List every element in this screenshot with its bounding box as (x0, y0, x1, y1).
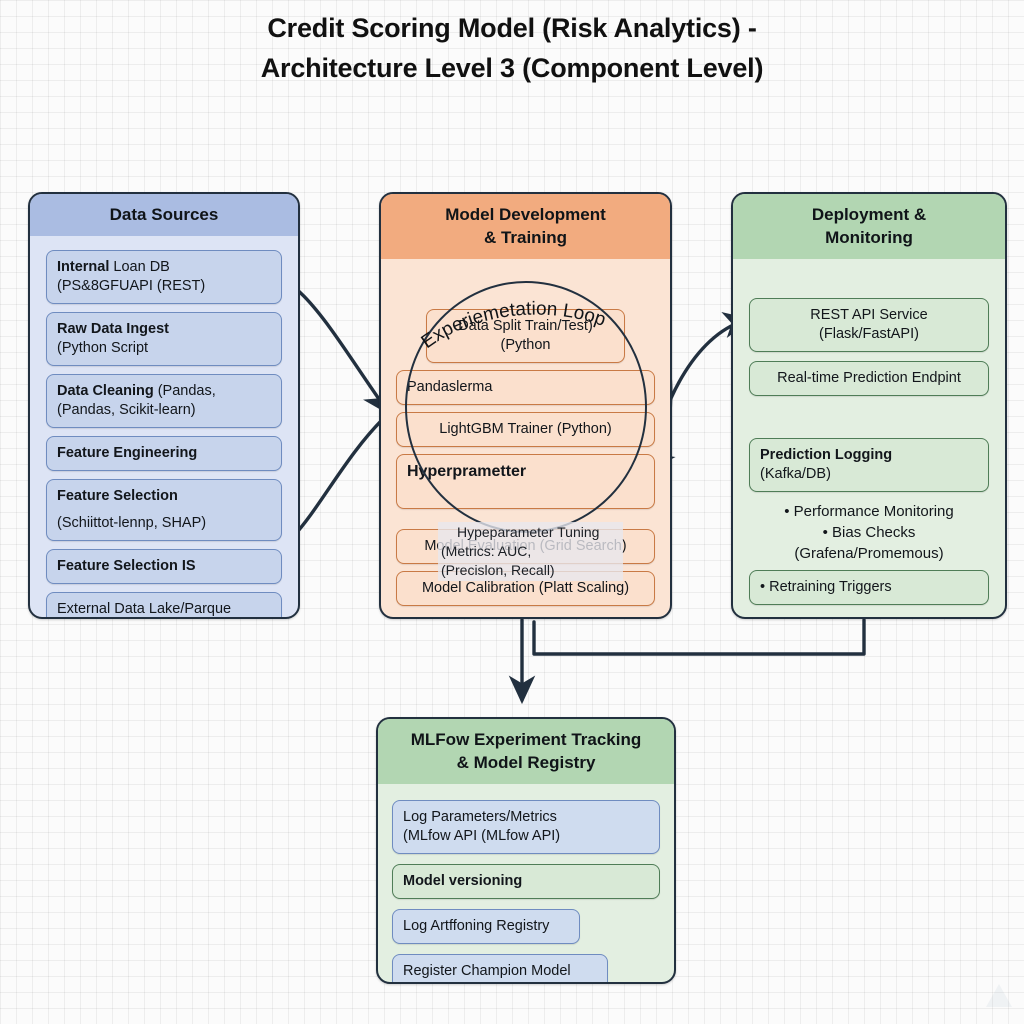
node-feature-engineering[interactable]: Feature Engineering (46, 436, 282, 471)
panel-model-development-header: Model Development & Training (381, 194, 670, 259)
bullet-performance-monitoring: • Performance Monitoring (749, 501, 989, 522)
panel-deployment-monitoring[interactable]: Deployment & Monitoring REST API Service… (731, 192, 1007, 619)
node-rest-api-service[interactable]: REST API Service (Flask/FastAPI) (749, 298, 989, 352)
node-retraining-triggers[interactable]: • Retraining Triggers (749, 570, 989, 605)
panel-mlflow-header-line-1: MLFow Experiment Tracking (411, 730, 642, 749)
node-log-artifact-registry[interactable]: Log Artffoning Registry (392, 909, 580, 944)
node-external-data-lake[interactable]: External Data Lake/Parque (46, 592, 282, 619)
hyperparameter-note-line-2: (Metrics: AUC, (441, 542, 620, 561)
node-prediction-logging-sub: (Kafka/DB) (760, 465, 978, 484)
panel-deployment-header-line-1: Deployment & (812, 205, 926, 224)
diagram-canvas: Credit Scoring Model (Risk Analytics) - … (0, 0, 1024, 1024)
node-realtime-prediction-endpoint-label: Real-time Prediction Endpint (760, 369, 978, 388)
node-raw-data-ingest-strong: Raw Data Ingest (57, 321, 169, 337)
node-log-artifact-registry-label: Log Artffoning Registry (403, 917, 569, 936)
watermark-icon (982, 980, 1016, 1014)
node-pandaslerma-label: Pandaslerma (407, 378, 644, 397)
node-feature-selection-is-label: Feature Selection IS (57, 558, 196, 574)
node-raw-data-ingest-sub: (Python Script (57, 339, 271, 358)
node-data-cleaning-sub: (Pandas, Scikit-learn) (57, 401, 271, 420)
node-lightgbm-trainer[interactable]: LightGBM Trainer (Python) (396, 412, 655, 447)
panel-mlflow-body: Log Parameters/Metrics (MLfow API (MLfow… (378, 784, 674, 984)
bullet-grafana-prometheus: (Grafena/Promemous) (749, 543, 989, 564)
node-external-data-lake-label: External Data Lake/Parque (57, 600, 271, 619)
hyperparameter-note-line-3: (Precislon, Recall) (441, 561, 620, 580)
hyperparameter-tuning-note: Hypeparameter Tuning (Metrics: AUC, (Pre… (438, 522, 623, 581)
node-realtime-prediction-endpoint[interactable]: Real-time Prediction Endpint (749, 361, 989, 396)
node-feature-selection-strong: Feature Selection (57, 488, 178, 504)
node-raw-data-ingest[interactable]: Raw Data Ingest (Python Script (46, 312, 282, 366)
page-title: Credit Scoring Model (Risk Analytics) - … (0, 8, 1024, 88)
panel-data-sources-header: Data Sources (30, 194, 298, 236)
experimentation-loop-text: Experiemetation Loop (418, 299, 609, 353)
node-model-calibration-label: Model Calibration (Platt Scaling) (407, 579, 644, 598)
panel-deployment-header: Deployment & Monitoring (733, 194, 1005, 259)
bullet-bias-checks: • Bias Checks (749, 522, 989, 543)
node-feature-engineering-label: Feature Engineering (57, 445, 197, 461)
node-hyperparameter-label: Hyperprametter (407, 463, 526, 480)
node-data-cleaning[interactable]: Data Cleaning (Pandas, (Pandas, Scikit-l… (46, 374, 282, 428)
node-register-champion-model[interactable]: Register Champion Model (392, 954, 608, 984)
node-data-cleaning-strong: Data Cleaning (57, 383, 154, 399)
node-data-cleaning-rest: (Pandas, (154, 383, 216, 399)
node-internal-loan-db[interactable]: Internal Loan DB (PS&8GFUAPI (REST) (46, 250, 282, 304)
panel-model-development[interactable]: Model Development & Training Experiemeta… (379, 192, 672, 619)
panel-deployment-header-line-2: Monitoring (825, 228, 913, 247)
panel-model-development-body: Experiemetation Loop Data Split Train/Te… (381, 259, 670, 591)
node-feature-selection[interactable]: Feature Selection (Schiittot-lennp, SHAP… (46, 479, 282, 541)
panel-deployment-body: REST API Service (Flask/FastAPI) Real-ti… (733, 259, 1005, 619)
node-model-versioning[interactable]: Model versioning (392, 864, 660, 899)
node-retraining-triggers-label: • Retraining Triggers (760, 578, 978, 597)
panel-mlflow-registry[interactable]: MLFow Experiment Tracking & Model Regist… (376, 717, 676, 984)
experimentation-loop-label: Experiemetation Loop (381, 259, 672, 379)
node-prediction-logging[interactable]: Prediction Logging (Kafka/DB) (749, 438, 989, 492)
node-internal-loan-db-rest: Loan DB (109, 259, 169, 275)
node-lightgbm-trainer-label: LightGBM Trainer (Python) (407, 420, 644, 439)
node-register-champion-model-label: Register Champion Model (403, 962, 597, 981)
panel-data-sources-body: Internal Loan DB (PS&8GFUAPI (REST) Raw … (30, 236, 298, 619)
node-model-versioning-label: Model versioning (403, 873, 522, 889)
node-rest-api-service-sub: (Flask/FastAPI) (760, 325, 978, 344)
node-rest-api-service-label: REST API Service (760, 306, 978, 325)
panel-mlflow-header: MLFow Experiment Tracking & Model Regist… (378, 719, 674, 784)
svg-text:Experiemetation Loop: Experiemetation Loop (418, 299, 609, 353)
node-feature-selection-sub: (Schiittot-lennp, SHAP) (57, 514, 271, 533)
title-line-2: Architecture Level 3 (Component Level) (0, 48, 1024, 88)
panel-mlflow-header-line-2: & Model Registry (457, 753, 596, 772)
node-log-parameters-metrics-label: Log Parameters/Metrics (403, 808, 649, 827)
node-internal-loan-db-strong: Internal (57, 259, 109, 275)
connector-deployment-to-mlflow (534, 620, 864, 654)
node-prediction-logging-strong: Prediction Logging (760, 447, 892, 463)
title-line-1: Credit Scoring Model (Risk Analytics) - (267, 13, 756, 43)
node-hyperparameter[interactable]: Hyperprametter (396, 454, 655, 509)
panel-model-header-line-2: & Training (484, 228, 567, 247)
node-log-parameters-metrics-sub: (MLfow API (MLfow API) (403, 827, 649, 846)
hyperparameter-note-line-1: Hypeparameter Tuning (441, 523, 620, 542)
node-feature-selection-is[interactable]: Feature Selection IS (46, 549, 282, 584)
node-internal-loan-db-sub: (PS&8GFUAPI (REST) (57, 277, 271, 296)
panel-model-header-line-1: Model Development (445, 205, 606, 224)
node-log-parameters-metrics[interactable]: Log Parameters/Metrics (MLfow API (MLfow… (392, 800, 660, 854)
panel-data-sources[interactable]: Data Sources Internal Loan DB (PS&8GFUAP… (28, 192, 300, 619)
